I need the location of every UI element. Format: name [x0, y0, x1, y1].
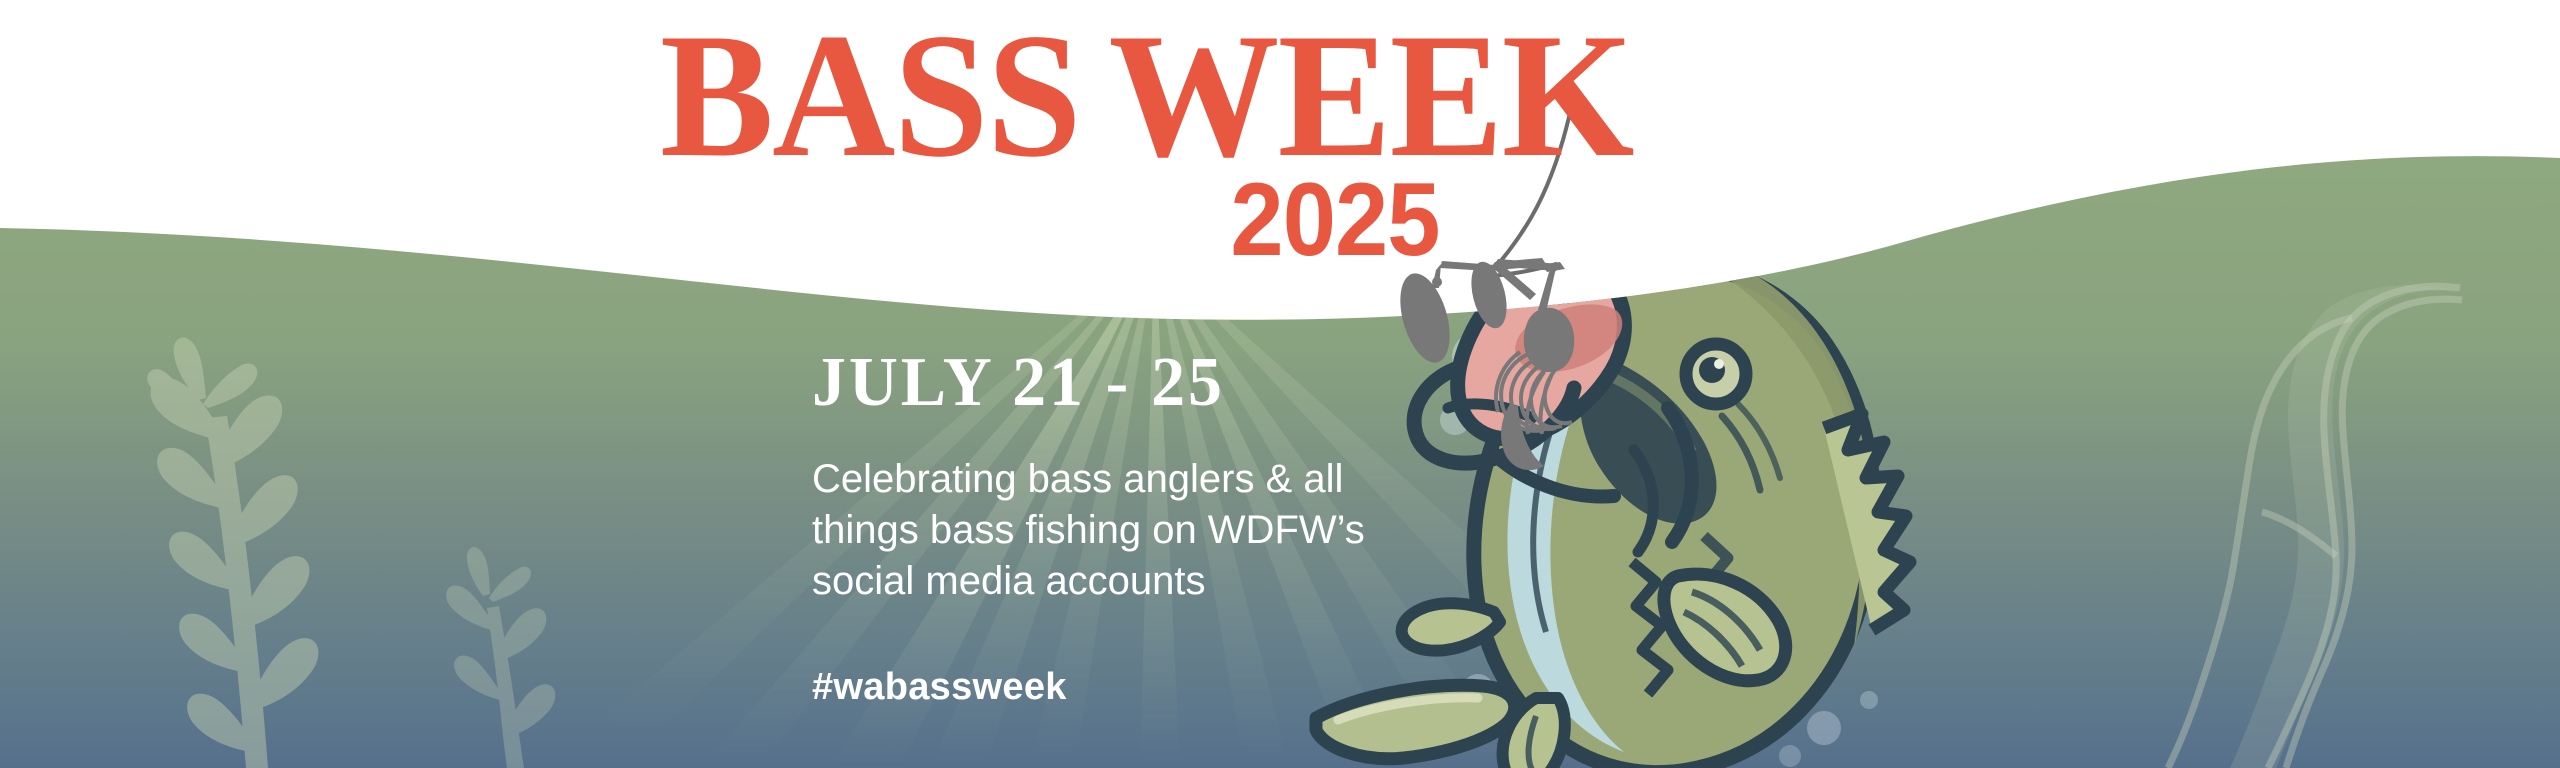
bass-week-banner: BASSWEEK 2025 JULY 21 - 25 Celebrating b… — [0, 0, 2560, 768]
underwater-scene — [0, 0, 2560, 768]
fishing-line-icon — [1488, 104, 1572, 276]
